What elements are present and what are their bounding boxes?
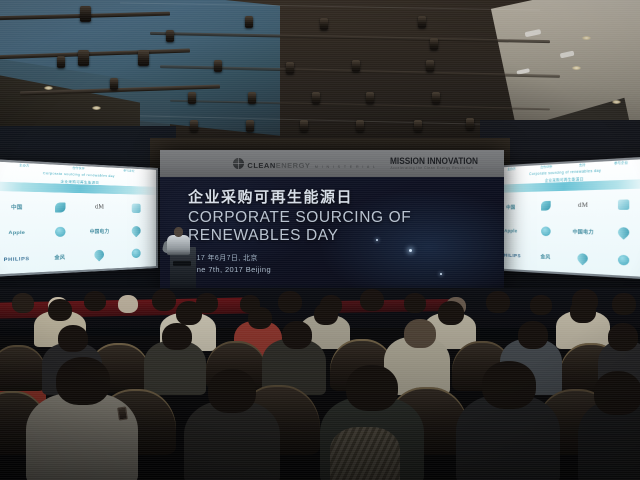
- leaf-icon: [541, 201, 551, 211]
- attendee: [360, 289, 384, 311]
- clean-energy-ministerial-logo: CLEANENERGY M I N I S T E R I A L: [233, 156, 376, 172]
- cem-logo-main: CLEAN: [247, 161, 275, 170]
- partner-logo-9: PHILIPS: [4, 255, 30, 262]
- square-icon: [618, 200, 629, 211]
- partner-logo-label: 中国电力: [572, 229, 593, 235]
- track-spotlight: [320, 18, 328, 30]
- partner-logo-6: [55, 227, 65, 238]
- globe-icon: [132, 249, 141, 259]
- globe-icon: [541, 226, 551, 236]
- track-spotlight: [214, 60, 222, 72]
- orbit-node: [409, 249, 412, 252]
- cem-logo-sub: M I N I S T E R I A L: [315, 165, 376, 169]
- side-screen-left: 主办方 合作伙伴 参与企业 Corporate sourcing of rene…: [0, 159, 158, 277]
- partner-logo-3: dM: [578, 203, 588, 209]
- attendee: [48, 299, 72, 321]
- slide-content-left: 主办方 合作伙伴 参与企业 Corporate sourcing of rene…: [0, 159, 158, 277]
- partner-logo-label: Apple: [8, 230, 25, 236]
- attendee: [208, 369, 256, 413]
- screen-date-chinese: 2017 年6月7日, 北京: [188, 253, 258, 263]
- partner-logo-4: [618, 200, 629, 212]
- attendee: [518, 321, 548, 349]
- track-spotlight: [166, 30, 174, 42]
- mi-logo-main: MISSION INNOVATION: [390, 157, 478, 166]
- attendee: [404, 293, 426, 313]
- attendee: [152, 289, 176, 311]
- ceiling-downlight: [572, 66, 581, 70]
- partner-logo-wordmark: dM: [95, 205, 104, 210]
- slide-content-right: 主办方 合作伙伴 支持 参与企业 Corporate sourcing of r…: [490, 156, 640, 279]
- attendee: [594, 371, 640, 415]
- partner-logo-12: [618, 254, 629, 266]
- conference-hall-photo: 主办方 合作伙伴 参与企业 Corporate sourcing of rene…: [0, 0, 640, 480]
- track-spotlight: [312, 92, 320, 104]
- attendee: [330, 427, 400, 480]
- droplet-icon: [93, 248, 107, 262]
- partner-logo-8: [132, 226, 141, 236]
- screen-date-english: June 7th, 2017 Beijing: [188, 265, 271, 274]
- ceiling-downlight: [92, 106, 101, 110]
- attendee: [58, 325, 88, 352]
- partner-logo-5: Apple: [504, 229, 517, 234]
- speaker-body: [167, 235, 190, 255]
- partner-logo-label: 中国电力: [90, 229, 110, 235]
- track-spotlight: [188, 92, 196, 104]
- partner-logo-wordmark: PHILIPS: [4, 255, 30, 262]
- attendee: [608, 323, 638, 351]
- partner-logo-11: [578, 253, 588, 265]
- track-spotlight: [110, 78, 118, 90]
- track-spotlight: [426, 60, 434, 72]
- partner-logo-3: dM: [95, 205, 104, 210]
- partner-logo-8: [618, 227, 629, 239]
- attendee: [314, 303, 338, 325]
- track-spotlight: [248, 92, 256, 104]
- screen-title-english-line1: CORPORATE SOURCING OF: [188, 209, 448, 227]
- track-spotlight: [246, 120, 254, 132]
- partner-logo-6: [541, 226, 551, 237]
- track-spotlight: [286, 62, 294, 74]
- track-spotlight: [190, 120, 198, 132]
- square-icon: [132, 203, 141, 212]
- mi-logo-sub: Accelerating the Clean Energy Revolution: [390, 167, 486, 170]
- attendee: [404, 319, 436, 348]
- attendee: [248, 307, 272, 329]
- globe-icon: [618, 254, 629, 265]
- screen-logo-bar: CLEANENERGY M I N I S T E R I A L MISSIO…: [160, 150, 504, 177]
- track-spotlight: [245, 16, 253, 28]
- partner-logo-label: Apple: [504, 229, 517, 234]
- partner-logo-5: Apple: [8, 230, 25, 236]
- mission-innovation-logo: MISSION INNOVATION Accelerating the Clea…: [390, 157, 486, 171]
- track-spotlight: [57, 56, 65, 68]
- ceiling-downlight: [582, 36, 591, 40]
- track-spotlight: [352, 60, 360, 72]
- partner-logo-label: 中国: [11, 204, 23, 210]
- track-spotlight: [414, 120, 422, 132]
- orbit-node: [440, 273, 442, 275]
- ceiling-downlight: [612, 100, 621, 104]
- attendee: [612, 293, 636, 315]
- attendee: [176, 301, 202, 325]
- attendee: [530, 295, 552, 315]
- partner-logo-label: 中国: [506, 204, 515, 209]
- side-screen-right: 主办方 合作伙伴 支持 参与企业 Corporate sourcing of r…: [490, 156, 640, 279]
- partner-logo-2: [541, 201, 551, 212]
- attendee: [438, 301, 464, 325]
- leaf-icon: [55, 202, 65, 212]
- screen-body: 企业采购可再生能源日 CORPORATE SOURCING OF RENEWAB…: [160, 177, 504, 290]
- cem-logo-main-dim: ENERGY: [276, 161, 311, 170]
- partner-logo-7: 中国电力: [90, 229, 110, 235]
- screen-title-chinese: 企业采购可再生能源日: [188, 186, 353, 207]
- audience-area: [0, 285, 640, 480]
- speaker-head: [174, 227, 183, 237]
- droplet-icon: [576, 251, 591, 265]
- main-presentation-screen: CLEANENERGY M I N I S T E R I A L MISSIO…: [160, 150, 504, 290]
- droplet-icon: [130, 224, 143, 237]
- attendee: [162, 323, 192, 350]
- partner-logo-4: [132, 203, 141, 213]
- mobile-phone: [117, 406, 128, 420]
- globe-icon: [233, 158, 244, 169]
- track-spotlight: [430, 38, 438, 50]
- partner-logo-12: [132, 249, 141, 260]
- globe-icon: [55, 227, 65, 237]
- partner-logo-wordmark: dM: [578, 203, 588, 209]
- track-spotlight: [366, 92, 374, 104]
- ceiling-downlight: [44, 86, 53, 90]
- attendee: [346, 365, 398, 411]
- partner-logo-grid-right: 中国 dM Apple 中国电力 PHILIPS 金风: [490, 188, 640, 279]
- partner-logo-10: 金风: [55, 254, 66, 260]
- track-spotlight: [356, 120, 364, 132]
- partner-logo-label: 金风: [541, 254, 551, 260]
- attendee: [56, 357, 110, 405]
- partner-logo-label: 金风: [55, 254, 66, 260]
- partner-logo-grid-left: 中国 dM Apple 中国电力 PHILIPS 金风: [0, 191, 158, 277]
- podium-nameplate: [173, 261, 191, 266]
- partner-logo-1: 中国: [11, 204, 23, 210]
- partner-logo-1: 中国: [506, 204, 515, 209]
- track-spotlight: [80, 6, 91, 22]
- track-spotlight: [300, 120, 308, 132]
- partner-logo-2: [55, 202, 65, 213]
- track-spotlight: [138, 50, 149, 66]
- attendee: [486, 291, 510, 313]
- attendee: [570, 299, 596, 323]
- track-spotlight: [432, 92, 440, 104]
- track-spotlight: [466, 118, 474, 130]
- attendee: [84, 291, 106, 311]
- screen-title-english-line2: RENEWABLES DAY: [188, 227, 448, 245]
- droplet-icon: [616, 225, 632, 240]
- track-spotlight: [78, 50, 89, 66]
- attendee: [282, 321, 312, 349]
- attendee: [278, 291, 302, 313]
- partner-logo-7: 中国电力: [572, 229, 593, 235]
- partner-logo-11: [95, 250, 105, 261]
- banquet-chair: [0, 345, 46, 391]
- track-spotlight: [418, 16, 426, 28]
- screen-title-english: CORPORATE SOURCING OF RENEWABLES DAY: [188, 209, 448, 245]
- attendee: [482, 361, 536, 409]
- partner-logo-10: 金风: [541, 254, 551, 260]
- attendee: [118, 295, 138, 313]
- attendee: [12, 293, 34, 313]
